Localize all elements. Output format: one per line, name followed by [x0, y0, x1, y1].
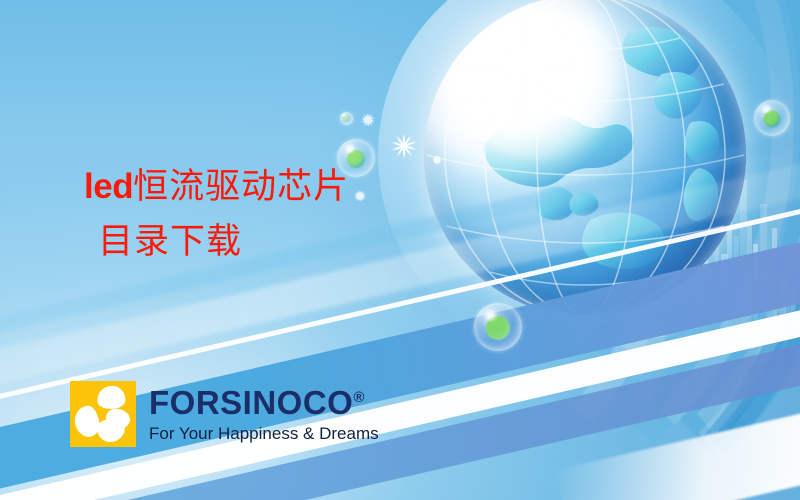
headline-text: led恒流驱动芯片 目录下载 [84, 164, 349, 265]
brand-word: FORSINOCO [149, 384, 353, 421]
headline-line-1: led恒流驱动芯片 [84, 164, 349, 211]
headline-han-1: 恒流驱动芯片 [133, 167, 349, 207]
globe-group [424, 0, 746, 316]
bubble-highlight [342, 113, 347, 117]
glass-bubble [754, 100, 790, 136]
brand-logo[interactable]: FORSINOCO® For Your Happiness & Dreams [70, 381, 379, 447]
glass-bubble [474, 303, 522, 351]
glass-bubble [340, 112, 353, 125]
registered-mark-icon: ® [353, 389, 365, 406]
earth-globe-icon [424, 0, 746, 316]
headline-latin: led [84, 167, 133, 206]
brand-tagline: For Your Happiness & Dreams [149, 425, 379, 442]
banner-canvas: led恒流驱动芯片 目录下载 FORSINOCO® For Your Happi… [0, 0, 800, 500]
brand-name: FORSINOCO® [149, 386, 379, 419]
petal-bottom [96, 418, 126, 443]
petal-top [96, 384, 127, 411]
logo-text-block: FORSINOCO® For Your Happiness & Dreams [149, 386, 379, 442]
headline-line-2: 目录下载 [98, 220, 349, 266]
globe-rim-light [424, 0, 746, 316]
forsinoco-petal-mark-icon [70, 381, 136, 447]
